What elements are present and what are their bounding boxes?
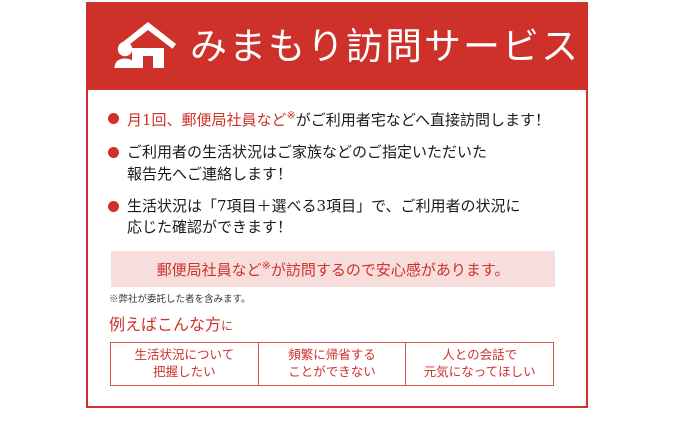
card-body: 月1回、郵便局社員など※がご利用者宅などへ直接訪問します！ ご利用者の生活状況は… (88, 92, 586, 406)
bullet-1-lead: 月1回、郵便局社員など (127, 111, 287, 129)
feature-bullet-2: ご利用者の生活状況はご家族などのご指定いただいた 報告先へご連絡します！ (108, 142, 566, 185)
bullet-dot-icon (108, 113, 119, 124)
feature-bullet-1: 月1回、郵便局社員など※がご利用者宅などへ直接訪問します！ (108, 108, 566, 131)
bullet-dot-icon (108, 147, 119, 158)
feature-bullet-3: 生活状況は「7項目＋選べる3項目」で、ご利用者の状況に 応じた確認ができます！ (108, 196, 566, 239)
case-box-3-label: 人との会話で 元気になってほしい (424, 347, 536, 381)
footnote-text: ※弊社が委託した者を含みます。 (109, 294, 566, 306)
case-box-2-label: 頻繁に帰省する ことができない (288, 347, 376, 381)
case-box-1: 生活状況について 把握したい (110, 342, 259, 386)
card-header: みまもり訪問サービス (86, 2, 588, 90)
examples-heading: 例えばこんな方に (109, 315, 566, 334)
bullet-2-line2: 報告先へご連絡します！ (127, 165, 292, 183)
bullet-1-asterisk: ※ (287, 109, 296, 122)
bullet-dot-icon (108, 201, 119, 212)
bullet-2-line1: ご利用者の生活状況はご家族などのご指定いただいた (127, 143, 487, 161)
reassurance-asterisk: ※ (262, 259, 271, 272)
service-card: みまもり訪問サービス 月1回、郵便局社員など※がご利用者宅などへ直接訪問します！… (86, 2, 588, 408)
bullet-3-line1: 生活状況は「7項目＋選べる3項目」で、ご利用者の状況に (127, 197, 521, 215)
reassurance-lead: 郵便局社員など (157, 261, 262, 279)
feature-bullet-list: 月1回、郵便局社員など※がご利用者宅などへ直接訪問します！ ご利用者の生活状況は… (108, 108, 566, 238)
bullet-1-rest: がご利用者宅などへ直接訪問します！ (296, 111, 550, 129)
page-title: みまもり訪問サービス (190, 28, 580, 65)
case-box-2: 頻繁に帰省する ことができない (258, 342, 407, 386)
house-with-person-icon (112, 20, 178, 72)
case-box-3: 人との会話で 元気になってほしい (405, 342, 554, 386)
case-box-1-label: 生活状況について 把握したい (135, 347, 235, 381)
examples-heading-main: 例えばこんな方 (109, 315, 221, 334)
bullet-3-line2: 応じた確認ができます！ (127, 218, 292, 236)
case-box-row: 生活状況について 把握したい 頻繁に帰省する ことができない 人との会話で 元気… (110, 342, 554, 386)
examples-heading-tail: に (221, 319, 233, 333)
reassurance-text: 郵便局社員など※が訪問するので安心感があります。 (157, 260, 510, 278)
reassurance-highlight-box: 郵便局社員など※が訪問するので安心感があります。 (111, 251, 555, 287)
reassurance-rest: が訪問するので安心感があります。 (271, 261, 510, 279)
page-root: みまもり訪問サービス 月1回、郵便局社員など※がご利用者宅などへ直接訪問します！… (0, 0, 680, 421)
